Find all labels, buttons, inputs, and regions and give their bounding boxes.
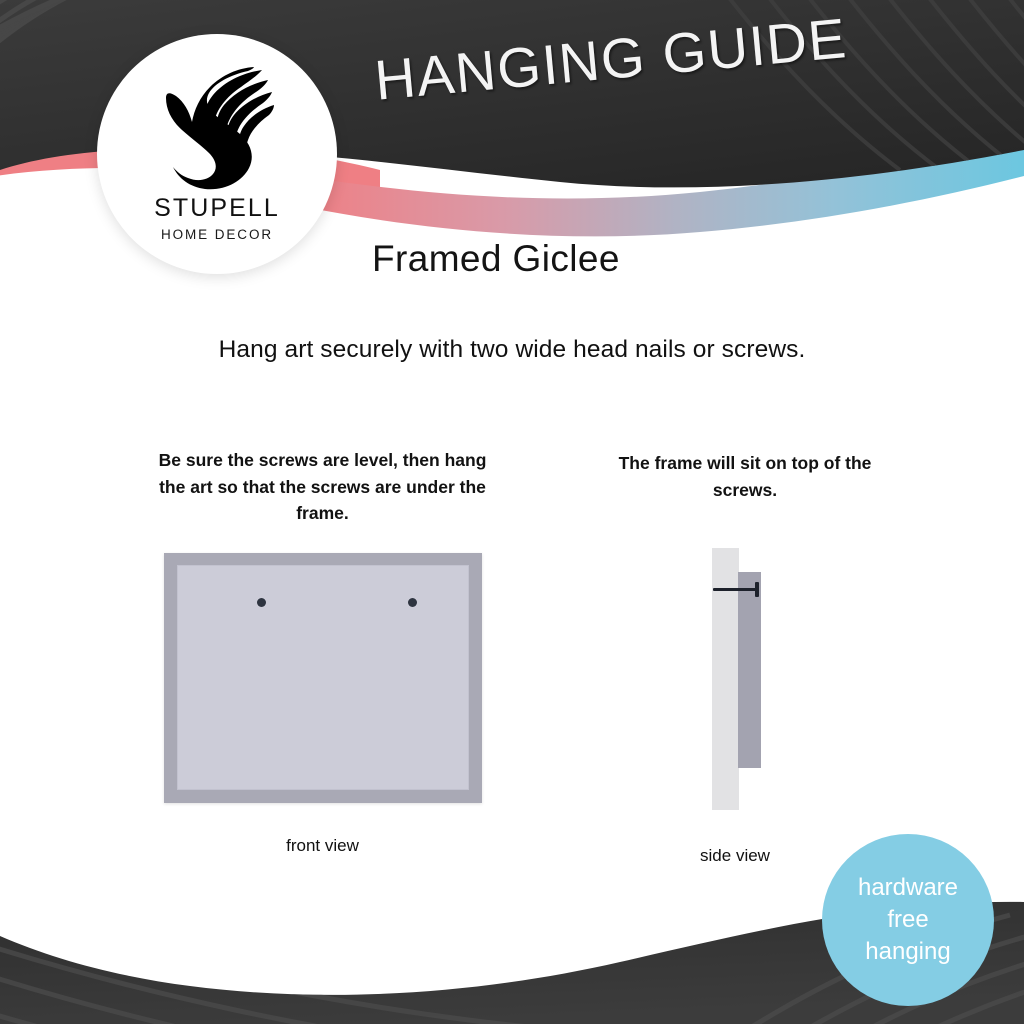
nail-head-icon (755, 582, 759, 597)
hardware-free-hanging-badge: hardware free hanging (822, 834, 994, 1006)
main-instruction-text: Hang art securely with two wide head nai… (0, 336, 1024, 364)
stupell-swan-logo-icon (158, 58, 276, 190)
side-view-caption: The frame will sit on top of the screws. (595, 450, 895, 503)
front-view-caption: Be sure the screws are level, then hang … (155, 447, 490, 527)
side-view-frame (738, 572, 761, 768)
side-view-label: side view (645, 846, 825, 866)
front-view-artwork-area (177, 565, 469, 790)
side-view-diagram (700, 540, 810, 820)
badge-line-1: hardware (858, 872, 958, 904)
screw-dot-right (408, 598, 417, 607)
nail-shaft-icon (713, 588, 758, 591)
brand-name: STUPELL (154, 194, 280, 223)
gradient-accent-wave (300, 132, 1024, 236)
screw-dot-left (257, 598, 266, 607)
brand-subtitle: HOME DECOR (161, 227, 273, 242)
badge-line-3: hanging (865, 936, 950, 968)
front-view-label: front view (215, 836, 430, 856)
badge-line-2: free (887, 904, 928, 936)
product-type-title: Framed Giclee (372, 238, 620, 280)
front-view-diagram (164, 553, 482, 803)
hanging-guide-page: HANGING GUIDE STUPELL HOME DECOR Framed … (0, 0, 1024, 1024)
brand-logo-badge: STUPELL HOME DECOR (97, 34, 337, 274)
page-title: HANGING GUIDE (372, 5, 850, 113)
